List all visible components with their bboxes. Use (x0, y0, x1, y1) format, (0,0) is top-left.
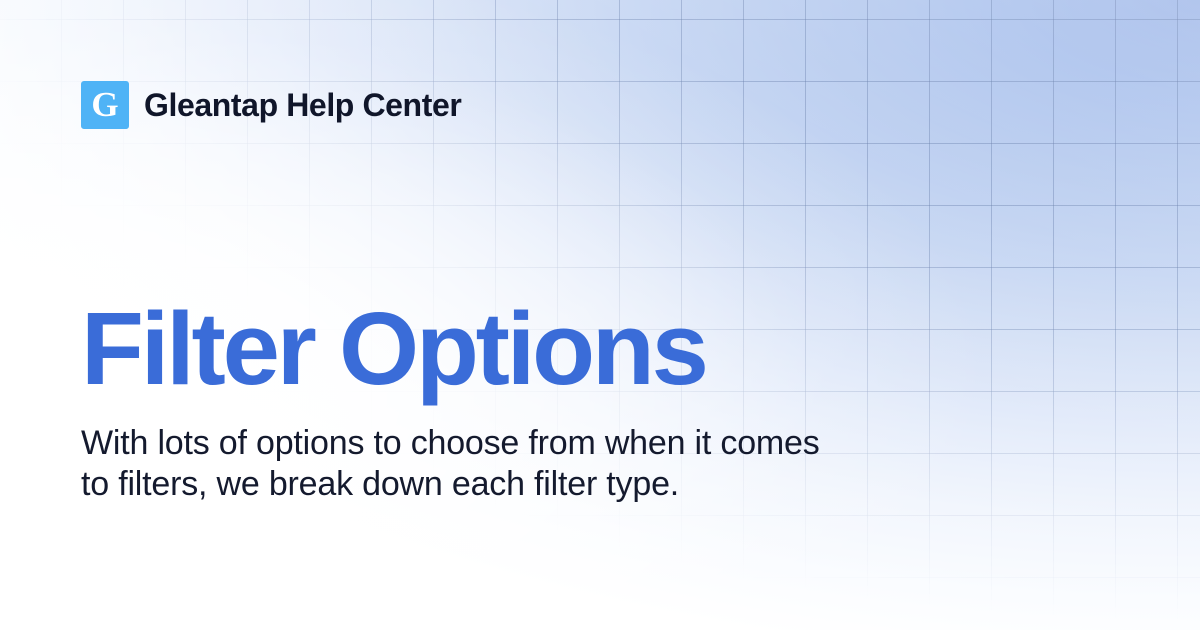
page-title: Filter Options (81, 296, 881, 401)
gleantap-logo-icon: G (81, 81, 129, 129)
brand-title: Gleantap Help Center (144, 87, 461, 124)
og-card: G Gleantap Help Center Filter Options Wi… (0, 0, 1200, 630)
hero-block: Filter Options With lots of options to c… (81, 296, 881, 505)
logo-letter: G (91, 87, 118, 122)
brand-lockup[interactable]: G Gleantap Help Center (81, 81, 461, 129)
content-layer: G Gleantap Help Center Filter Options Wi… (0, 0, 1200, 630)
page-subtitle: With lots of options to choose from when… (81, 423, 826, 505)
